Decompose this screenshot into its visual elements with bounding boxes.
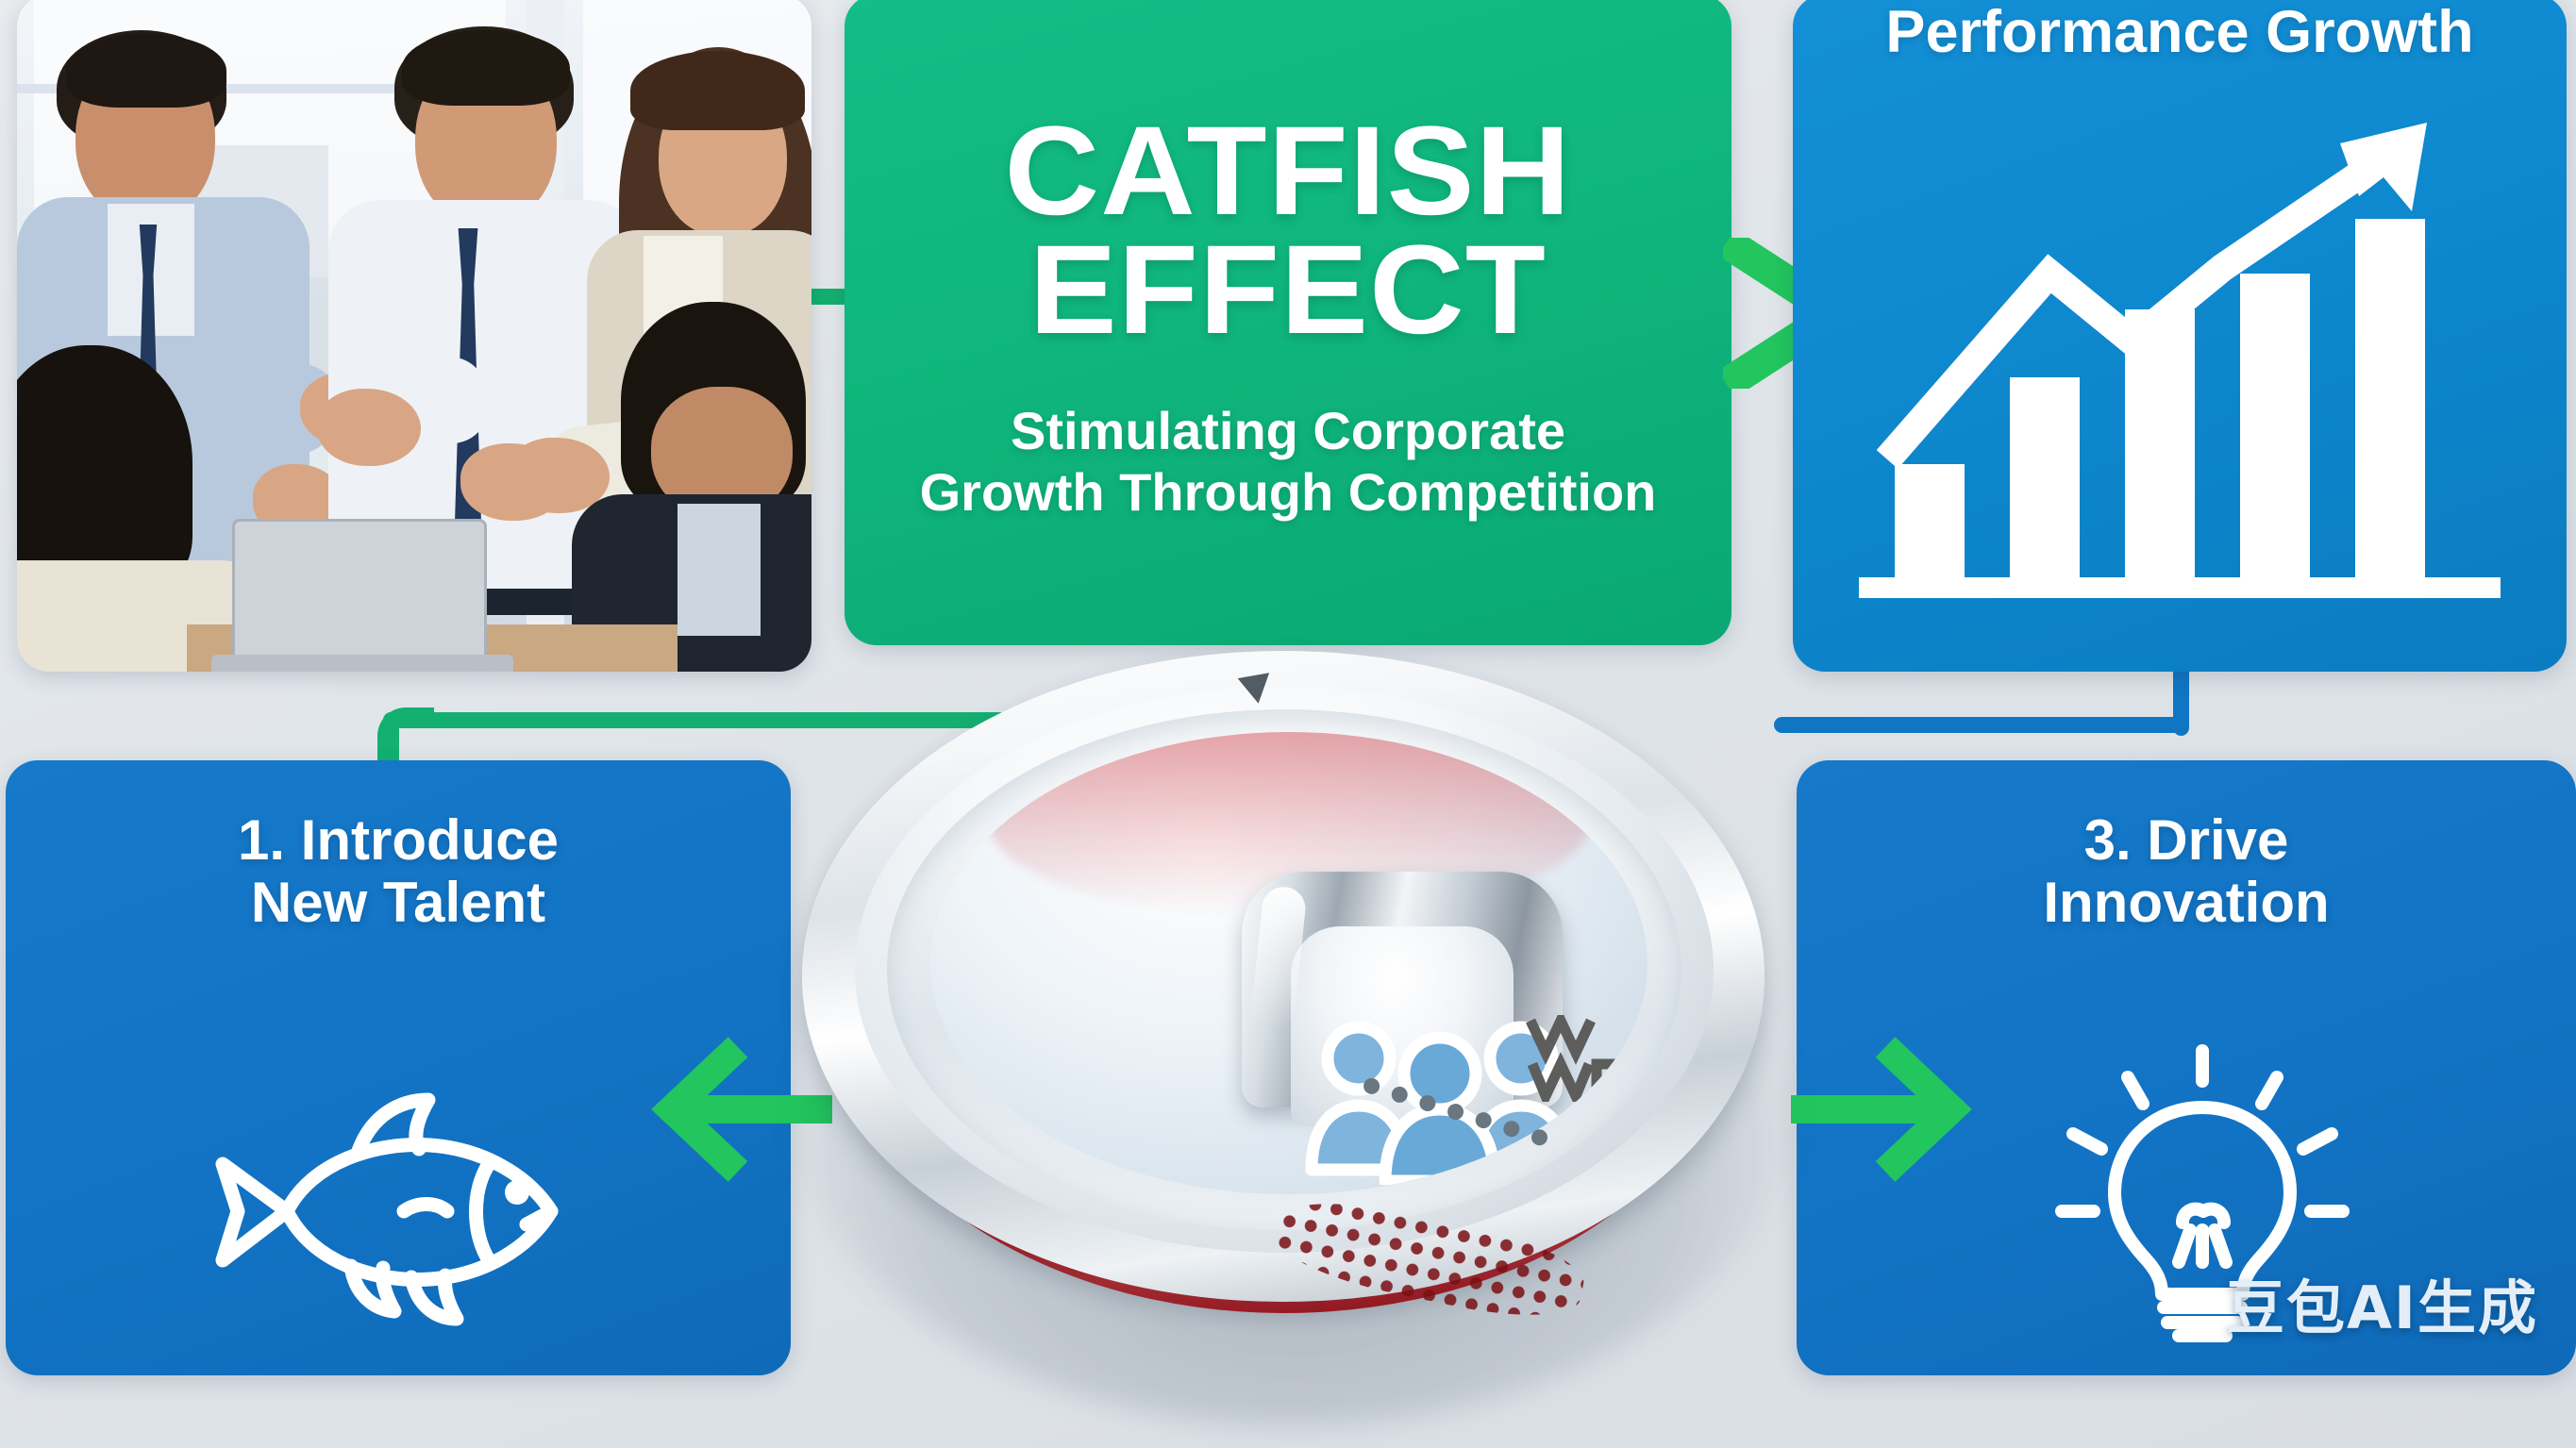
performance-growth-panel: Performance Growth: [1793, 0, 2567, 672]
step-3-title-line-1: 3. Drive: [2084, 808, 2289, 872]
page-subtitle: Stimulating Corporate Growth Through Com…: [920, 401, 1657, 524]
growth-panel-title: Performance Growth: [1793, 0, 2567, 66]
triangle-indicator-icon: [1238, 673, 1275, 706]
subtitle-line-1: Stimulating Corporate: [1011, 401, 1565, 460]
step-3-title: 3. Drive Innovation: [1797, 809, 2576, 934]
connector-green-to-talent-corner: [377, 707, 434, 764]
connector-growth-to-innovation-vertical: [2173, 660, 2189, 736]
subtitle-line-2: Growth Through Competition: [920, 462, 1657, 522]
catfish-effect-title-panel: CATFISH EFFECT Stimulating Corporate Gro…: [845, 0, 1731, 645]
infographic-canvas: CATFISH EFFECT Stimulating Corporate Gro…: [0, 0, 2576, 1448]
step-3-title-line-2: Innovation: [1797, 872, 2576, 934]
device-glass-dome: [930, 732, 1648, 1194]
bar-chart-with-upward-arrow-icon: [1849, 106, 2510, 634]
circular-cookware-lid: [745, 634, 1840, 1448]
page-title: CATFISH EFFECT: [1005, 112, 1572, 350]
office-team-photo: [17, 0, 811, 672]
title-line-2: EFFECT: [1005, 231, 1572, 350]
watermark-text: 豆包AI生成: [2226, 1260, 2538, 1345]
fish-outline-icon: [200, 1072, 596, 1336]
wmf-brand-logo: [1523, 1015, 1627, 1102]
step-1-title: 1. Introduce New Talent: [6, 809, 791, 934]
step-1-title-line-2: New Talent: [6, 872, 791, 934]
step-1-title-line-1: 1. Introduce: [238, 808, 559, 872]
